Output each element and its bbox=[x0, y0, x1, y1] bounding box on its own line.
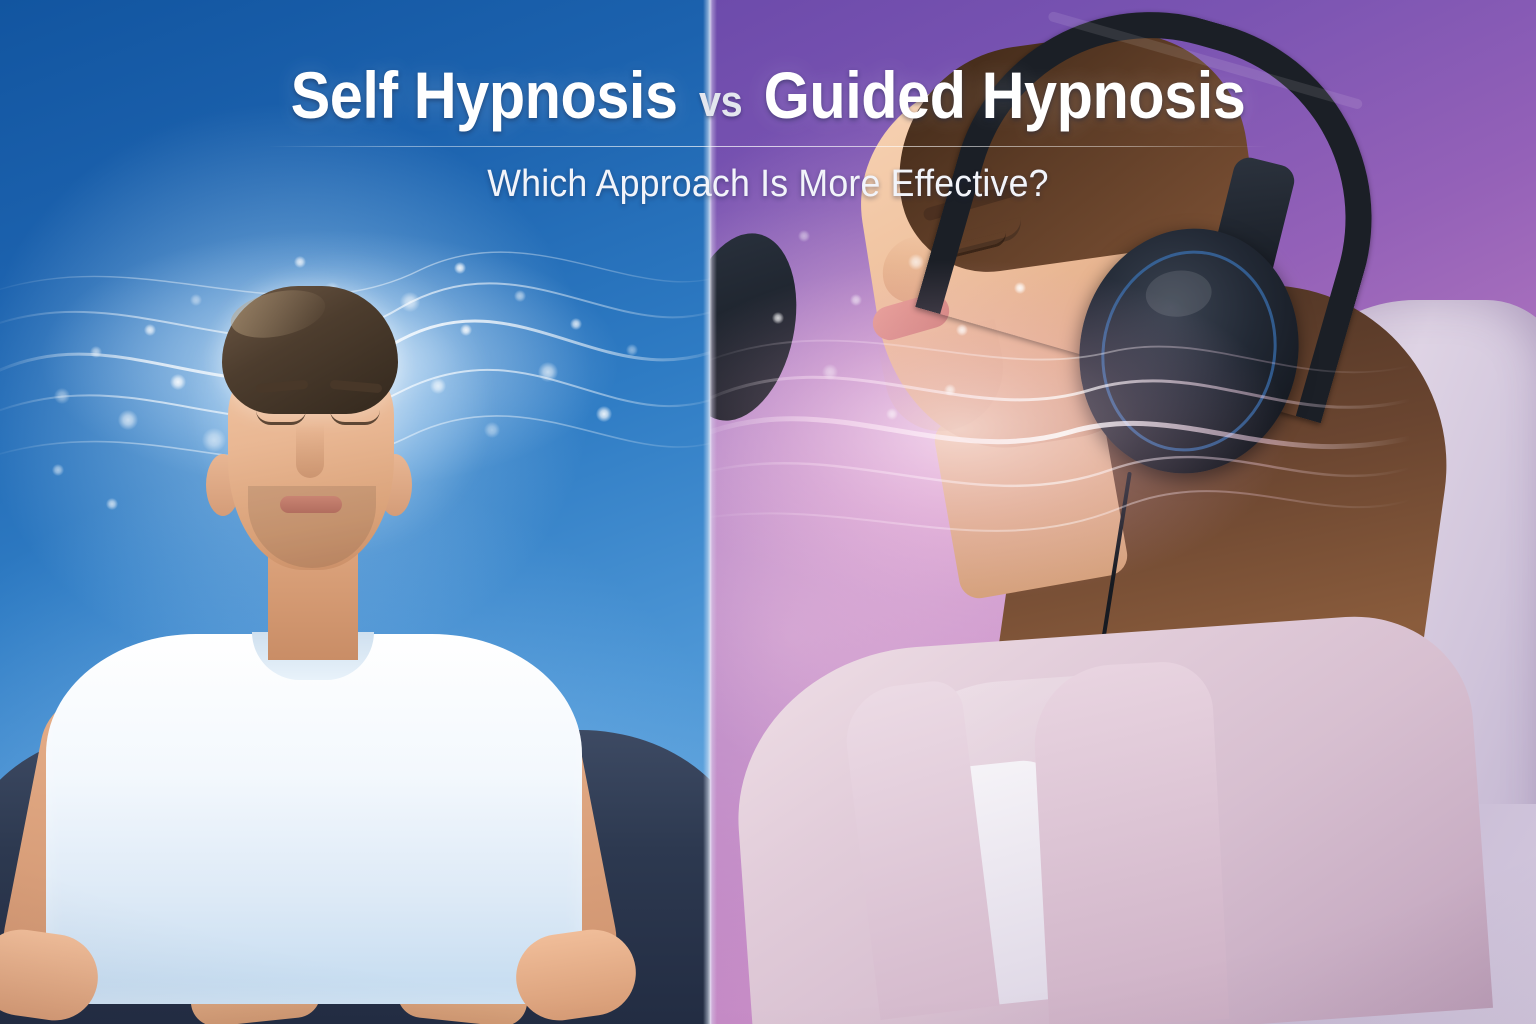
cardigan-lapel-right bbox=[1031, 660, 1230, 1024]
guided-hypnosis-panel bbox=[710, 0, 1536, 1024]
hero-banner: Self Hypnosis vs Guided Hypnosis Which A… bbox=[0, 0, 1536, 1024]
meditating-man-figure bbox=[0, 264, 710, 1024]
headphone-cup-far bbox=[710, 223, 813, 432]
man-lips bbox=[280, 496, 342, 513]
man-hair bbox=[222, 286, 398, 414]
reclining-woman-figure bbox=[710, 0, 1536, 1024]
man-white-tshirt bbox=[46, 634, 582, 1004]
man-closed-eye-left bbox=[256, 410, 306, 425]
self-hypnosis-panel bbox=[0, 0, 710, 1024]
man-nose bbox=[296, 424, 324, 478]
man-closed-eye-right bbox=[330, 410, 380, 425]
